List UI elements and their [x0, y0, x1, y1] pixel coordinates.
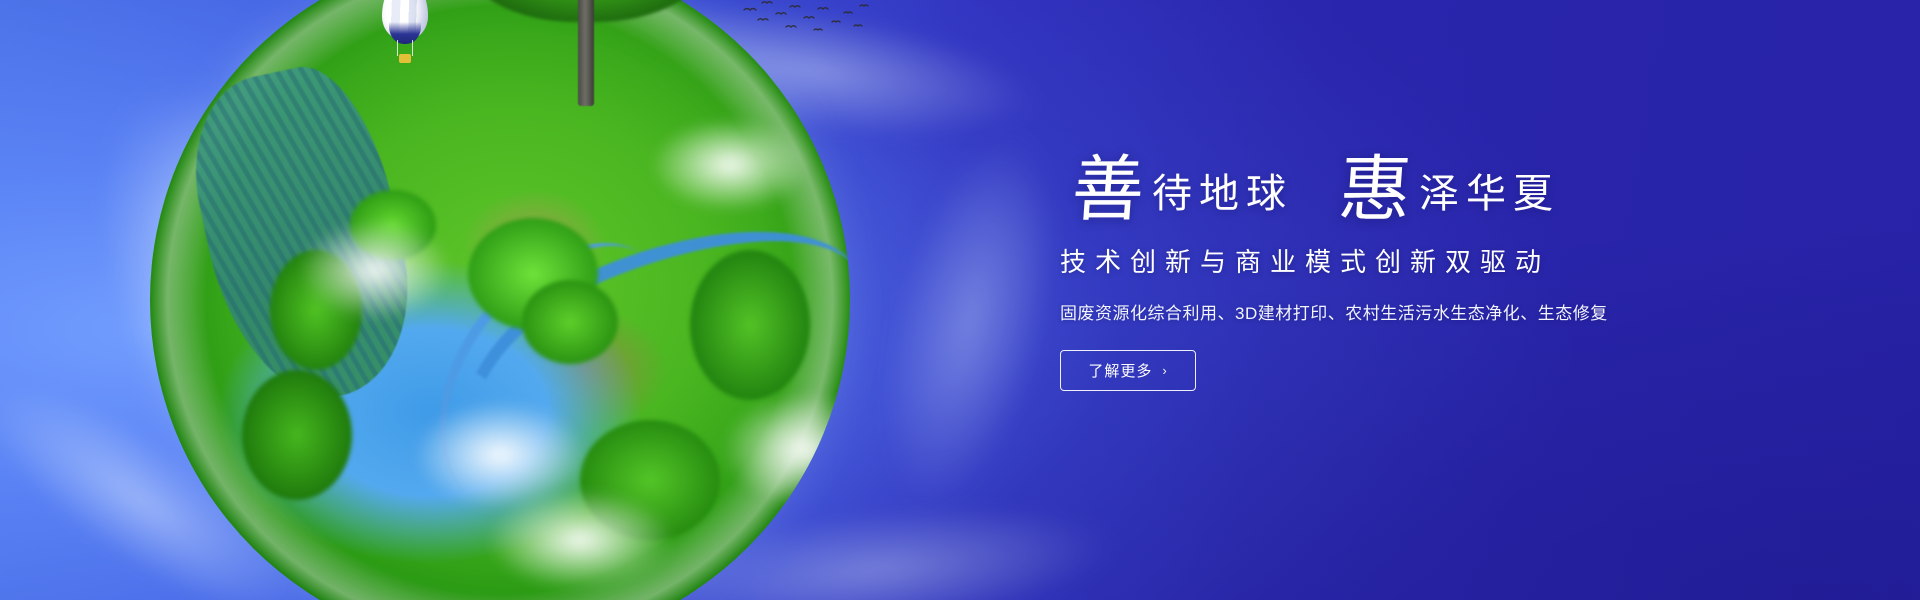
learn-more-button[interactable]: 了解更多 › [1060, 350, 1196, 391]
hero-banner: 善 待地球 惠 泽华夏 技术创新与商业模式创新双驱动 固废资源化综合利用、3D建… [0, 0, 1920, 600]
headline-char-shan: 善 [1069, 154, 1146, 226]
hero-description: 固废资源化综合利用、3D建材打印、农村生活污水生态净化、生态修复 [1060, 299, 1820, 324]
page-title: 善 待地球 惠 泽华夏 [1072, 148, 1820, 220]
headline-text-daidiqiu: 待地球 [1152, 174, 1293, 214]
headline-char-hui: 惠 [1336, 154, 1413, 226]
chevron-right-icon: › [1162, 364, 1167, 377]
hero-subtitle: 技术创新与商业模式创新双驱动 [1060, 242, 1820, 279]
learn-more-label: 了解更多 [1088, 360, 1152, 381]
headline-text-zehuaxia: 泽华夏 [1419, 174, 1560, 214]
hero-content: 善 待地球 惠 泽华夏 技术创新与商业模式创新双驱动 固废资源化综合利用、3D建… [1060, 148, 1820, 391]
